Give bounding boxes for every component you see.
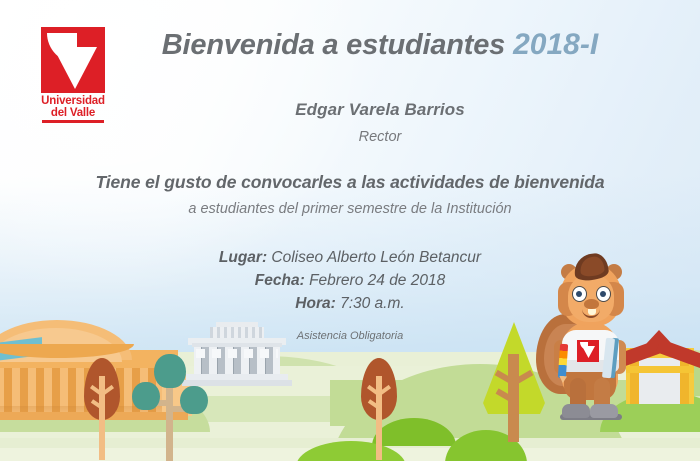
detail-label-lugar: Lugar: xyxy=(219,249,267,266)
detail-label-fecha: Fecha: xyxy=(255,272,305,289)
logo-line-1: Universidad xyxy=(37,95,109,107)
detail-row-fecha: Fecha: Febrero 24 de 2018 xyxy=(0,272,700,290)
leaf-tree-left xyxy=(78,358,124,461)
logo-underline-bar xyxy=(42,120,104,123)
teal-tree-canopy-right xyxy=(180,386,208,414)
squirrel-shoe-right xyxy=(590,404,618,418)
detail-value-fecha: Febrero 24 de 2018 xyxy=(309,272,445,289)
detail-value-hora: 7:30 a.m. xyxy=(340,295,405,312)
detail-row-hora: Hora: 7:30 a.m. xyxy=(0,295,700,313)
leaf-tree-center xyxy=(355,358,401,461)
welcome-poster: Universidad del Valle Bienvenida a estud… xyxy=(0,0,700,461)
squirrel-shoe-left xyxy=(562,404,590,418)
teal-tree-canopy-left xyxy=(132,382,160,410)
squirrel-logo-triangle-icon xyxy=(582,346,595,358)
invitation-line-2: a estudiantes del primer semestre de la … xyxy=(36,201,664,217)
logo-wordmark: Universidad del Valle xyxy=(37,95,109,119)
invitation-line-1: Tiene el gusto de convocarles a las acti… xyxy=(36,172,664,193)
page-title: Bienvenida a estudiantes2018-I xyxy=(120,28,640,62)
detail-row-lugar: Lugar: Coliseo Alberto León Betancur xyxy=(0,249,700,267)
teal-tree-canopy-top xyxy=(154,354,186,388)
rector-name: Edgar Varela Barrios xyxy=(120,100,640,120)
rector-role: Rector xyxy=(120,129,640,145)
page-title-text: Bienvenida a estudiantes xyxy=(162,29,505,61)
logo-line-2: del Valle xyxy=(37,107,109,119)
page-title-term: 2018-I xyxy=(513,28,598,61)
detail-value-lugar: Coliseo Alberto León Betancur xyxy=(271,249,481,266)
teal-tree-trunk xyxy=(166,376,173,461)
squirrel-shirt-logo-icon xyxy=(577,340,599,362)
teal-tree xyxy=(130,356,210,461)
detail-label-hora: Hora: xyxy=(295,295,335,312)
universidad-del-valle-logo: Universidad del Valle xyxy=(37,27,109,123)
leaf-tree-center-trunk xyxy=(376,376,382,460)
leaf-tree-left-trunk xyxy=(99,376,105,460)
attendance-note: Asistencia Obligatoria xyxy=(0,330,700,342)
